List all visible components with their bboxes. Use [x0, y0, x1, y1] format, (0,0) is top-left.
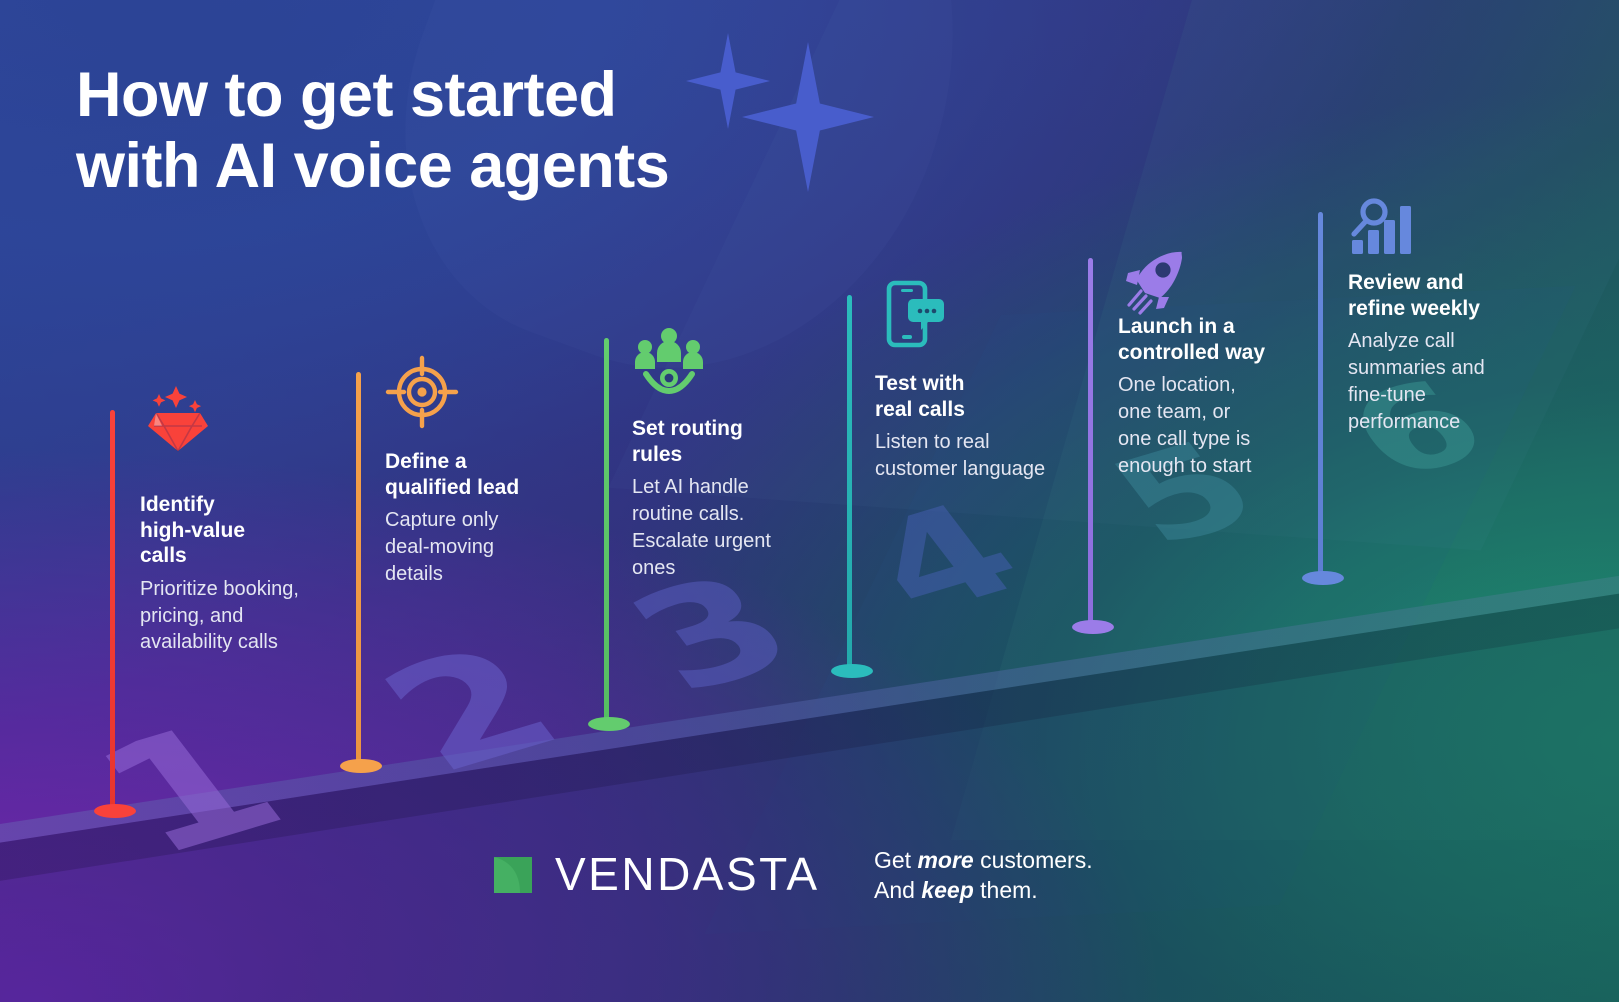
- step-desc-line: performance: [1348, 411, 1460, 433]
- step-desc-line: ones: [632, 557, 675, 579]
- step-pole: [110, 410, 115, 810]
- step-text-block: Define a qualified lead Capture only dea…: [385, 449, 605, 588]
- tagline-emphasis: more: [917, 847, 973, 873]
- step-description: Let AI handle routine calls. Escalate ur…: [632, 474, 852, 581]
- tagline-text: Get: [874, 847, 917, 873]
- step-title-line: high-value: [140, 519, 245, 542]
- step-title: Test with real calls: [875, 371, 1105, 422]
- tagline-text: them.: [974, 877, 1038, 903]
- step-pole: [1088, 258, 1093, 626]
- step-title: Identify high-value calls: [140, 492, 355, 569]
- step-desc-line: fine-tune: [1348, 384, 1426, 406]
- step-pole-base: [1072, 620, 1114, 634]
- step-desc-line: Listen to real: [875, 431, 990, 453]
- step-pole-base: [340, 759, 382, 773]
- step-title-line: Define a: [385, 450, 467, 473]
- step-title-line: Set routing: [632, 417, 743, 440]
- step-title-line: rules: [632, 443, 682, 466]
- step-title-line: qualified lead: [385, 476, 519, 499]
- step-desc-line: Capture only: [385, 509, 498, 531]
- tagline-text: customers.: [974, 847, 1093, 873]
- step-title: Set routing rules: [632, 416, 852, 467]
- step-pole-base: [94, 804, 136, 818]
- tagline: Get more customers. And keep them.: [874, 845, 1093, 906]
- step-title-line: Test with: [875, 372, 964, 395]
- rocket-icon: [1118, 246, 1192, 320]
- step-text-block: Test with real calls Listen to real cust…: [875, 371, 1105, 483]
- step-desc-line: customer language: [875, 458, 1045, 480]
- step-title-line: calls: [140, 544, 187, 567]
- step-desc-line: Prioritize booking,: [140, 578, 299, 600]
- step-description: One location, one team, or one call type…: [1118, 372, 1333, 479]
- step-title-line: controlled way: [1118, 341, 1265, 364]
- vendasta-logo[interactable]: VENDASTA: [487, 848, 820, 900]
- step-text-block: Launch in a controlled way One location,…: [1118, 314, 1333, 479]
- step-pole-base: [588, 717, 630, 731]
- step-desc-line: one team, or: [1118, 401, 1230, 423]
- diamond-icon: [140, 380, 214, 454]
- step-desc-line: One location,: [1118, 374, 1236, 396]
- step-title-line: Identify: [140, 493, 215, 516]
- step-pole: [847, 295, 852, 670]
- page-title-line-1: How to get started: [76, 60, 617, 130]
- step-title-line: real calls: [875, 398, 965, 421]
- tagline-emphasis: keep: [921, 877, 973, 903]
- step-desc-line: one call type is: [1118, 428, 1250, 450]
- step-description: Analyze call summaries and fine-tune per…: [1348, 328, 1563, 435]
- step-title-line: Launch in a: [1118, 315, 1235, 338]
- vendasta-wordmark: VENDASTA: [555, 851, 820, 897]
- tagline-line-2: And keep them.: [874, 875, 1093, 905]
- step-text-block: Identify high-value calls Prioritize boo…: [140, 492, 355, 656]
- step-desc-line: enough to start: [1118, 455, 1251, 477]
- step-title: Launch in a controlled way: [1118, 314, 1333, 365]
- step-desc-line: deal-moving: [385, 536, 494, 558]
- step-desc-line: summaries and: [1348, 357, 1485, 379]
- step-desc-line: Let AI handle: [632, 476, 749, 498]
- step-desc-line: Analyze call: [1348, 330, 1455, 352]
- step-pole: [604, 338, 609, 723]
- step-title-line: Review and: [1348, 271, 1464, 294]
- page-title: How to get started with AI voice agents: [76, 60, 916, 201]
- infographic-canvas: 1 2 3 4 5 6 How to get started with AI v…: [0, 0, 1619, 1002]
- step-pole: [356, 372, 361, 765]
- phone-chat-icon: [875, 279, 949, 353]
- step-desc-line: details: [385, 563, 443, 585]
- step-description: Prioritize booking, pricing, and availab…: [140, 576, 355, 656]
- step-title-line: refine weekly: [1348, 297, 1480, 320]
- step-description: Capture only deal-moving details: [385, 507, 605, 587]
- step-pole-base: [831, 664, 873, 678]
- step-pole: [1318, 212, 1323, 577]
- step-desc-line: pricing, and: [140, 605, 243, 627]
- analytics-search-icon: [1348, 196, 1422, 270]
- step-text-block: Set routing rules Let AI handle routine …: [632, 416, 852, 581]
- step-desc-line: Escalate urgent: [632, 530, 771, 552]
- page-title-line-2: with AI voice agents: [76, 131, 669, 201]
- step-description: Listen to real customer language: [875, 429, 1105, 483]
- step-pole-base: [1302, 571, 1344, 585]
- target-icon: [385, 355, 459, 429]
- step-text-block: Review and refine weekly Analyze call su…: [1348, 270, 1563, 435]
- team-icon: [632, 324, 706, 398]
- step-title: Review and refine weekly: [1348, 270, 1563, 321]
- tagline-line-1: Get more customers.: [874, 845, 1093, 875]
- vendasta-leaf-icon: [487, 848, 539, 900]
- step-desc-line: availability calls: [140, 631, 278, 653]
- tagline-text: And: [874, 877, 921, 903]
- step-title: Define a qualified lead: [385, 449, 605, 500]
- step-desc-line: routine calls.: [632, 503, 744, 525]
